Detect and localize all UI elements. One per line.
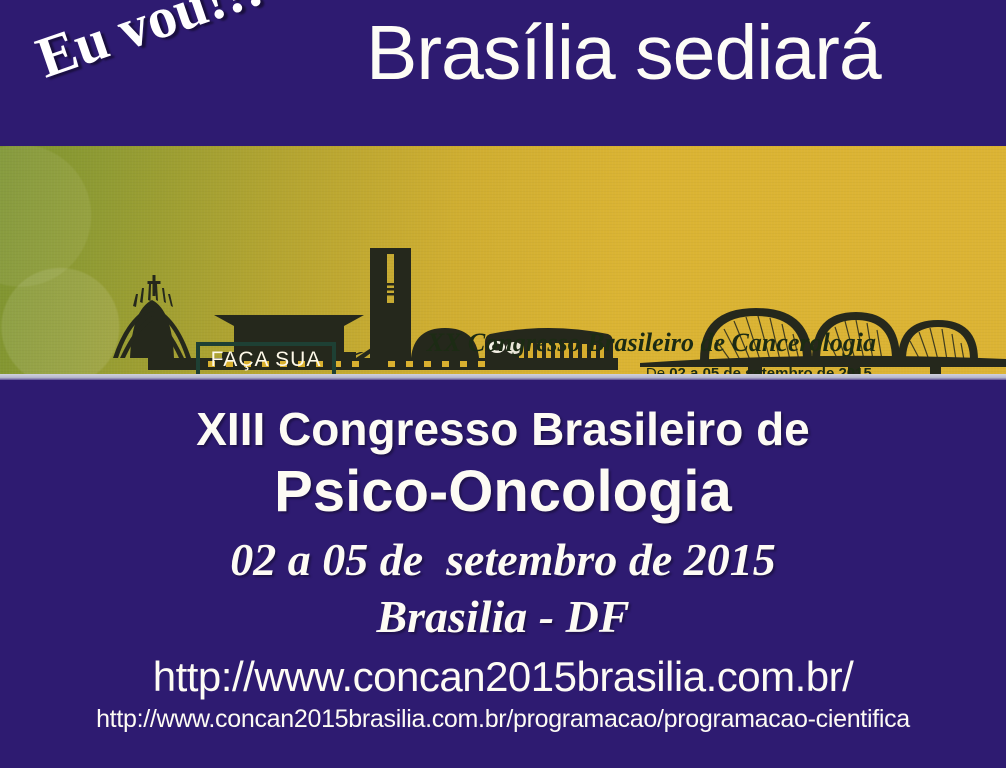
event-poster: Brasília sediará Eu vou!!! [0,0,1006,768]
banner-text-block: XX Congresso Brasileiro de Cancerologia … [427,328,876,378]
header-band: Brasília sediará Eu vou!!! [0,0,1006,146]
congress-city: Brasilia - DF [0,590,1006,643]
main-content-band: XIII Congresso Brasileiro de Psico-Oncol… [0,380,1006,768]
main-website-url[interactable]: http://www.concan2015brasilia.com.br/ [0,653,1006,701]
banner-event-title: XX Congresso Brasileiro de Cancerologia [427,328,876,358]
congress-name-line1: XIII Congresso Brasileiro de [0,402,1006,456]
congress-date: 02 a 05 de setembro de 2015 [0,533,1006,586]
scientific-program-url[interactable]: http://www.concan2015brasilia.com.br/pro… [0,705,1006,734]
congress-name-line2: Psico-Oncologia [0,458,1006,525]
badge-main-label: FAÇA SUA [200,348,332,372]
eu-vou-sticker: Eu vou!!! [28,0,271,91]
page-title: Brasília sediará [366,13,881,94]
banner-divider [0,374,1006,380]
congress-banner-image: FAÇA SUA inscrição XX Congresso Brasilei… [0,146,1006,378]
inscricao-badge[interactable]: FAÇA SUA inscrição [196,342,336,378]
